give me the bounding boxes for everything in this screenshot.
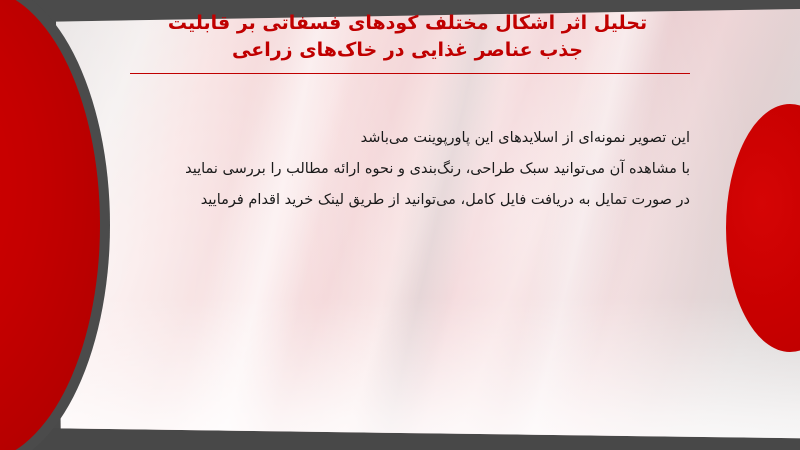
slide-body-line-1: این تصویر نمونه‌ای از اسلایدهای این پاور…: [150, 123, 690, 154]
slide-body-text: این تصویر نمونه‌ای از اسلایدهای این پاور…: [150, 123, 690, 216]
title-underline: [130, 73, 690, 74]
slide-body-line-2: با مشاهده آن می‌توانید سبک طراحی، رنگ‌بن…: [150, 154, 690, 185]
slide-title-line-2: جذب عناصر غذایی در خاک‌های زراعی: [120, 37, 695, 64]
slide-body-line-3: در صورت تمایل به دریافت فایل کامل، می‌تو…: [150, 185, 690, 216]
presentation-slide: تحلیل اثر اشکال مختلف کودهای فسفاتی بر ق…: [0, 0, 800, 450]
slide-title-line-1: تحلیل اثر اشکال مختلف کودهای فسفاتی بر ق…: [120, 10, 695, 37]
background-bottom-glow: [0, 297, 800, 450]
background-stripe-highlights: [0, 0, 800, 450]
slide-content-panel: [0, 0, 800, 450]
background-sheen-curves: [0, 0, 800, 450]
slide-title: تحلیل اثر اشکال مختلف کودهای فسفاتی بر ق…: [120, 10, 695, 64]
